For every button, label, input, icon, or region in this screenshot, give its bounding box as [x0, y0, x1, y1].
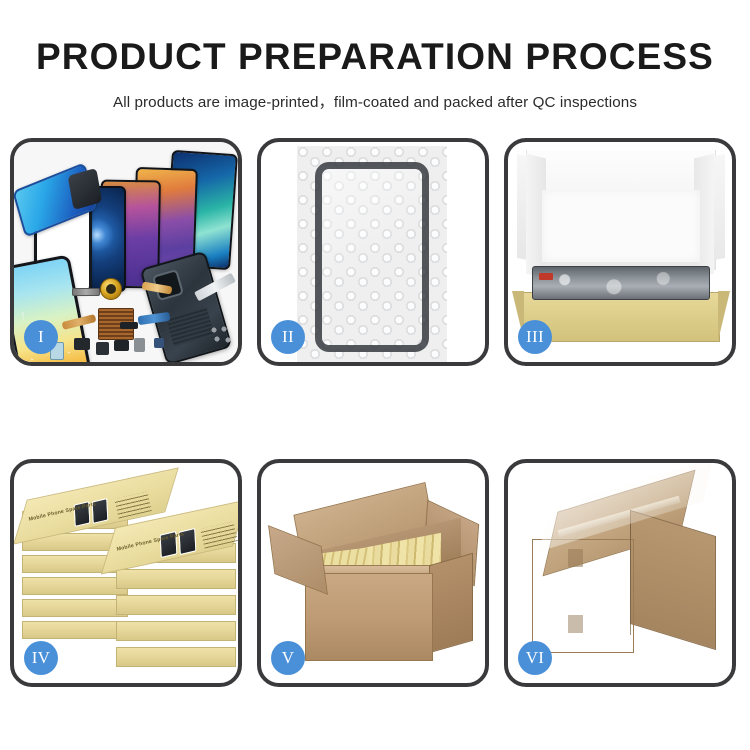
- carton-edge-seam: [630, 523, 631, 635]
- carton-right-panel-icon: [630, 510, 716, 650]
- phone-glass-outline-icon: [315, 162, 429, 352]
- stacked-box: [116, 647, 236, 667]
- metal-bracket-icon: [72, 288, 100, 296]
- chip-part-b-icon: [96, 342, 109, 355]
- process-step-panel-3[interactable]: III: [504, 138, 736, 366]
- process-step-panel-2[interactable]: II: [257, 138, 489, 366]
- chip-part-g-icon: [120, 322, 138, 329]
- page-title: PRODUCT PREPARATION PROCESS: [0, 0, 750, 78]
- stacked-box: [22, 599, 128, 617]
- process-step-panel-4[interactable]: Mobile Phone Spare Parts Mobile Phone Sp…: [10, 459, 242, 687]
- chip-part-f-icon: [154, 338, 164, 348]
- stacked-box: [22, 577, 128, 595]
- process-step-grid: I II III: [10, 138, 740, 687]
- step-badge-5: V: [271, 641, 305, 675]
- stacked-box: [116, 569, 236, 589]
- speaker-coil-icon: [100, 278, 122, 300]
- screen-red-tab-icon: [539, 273, 553, 280]
- process-step-panel-5[interactable]: V: [257, 459, 489, 687]
- carton-handle-tab-icon: [568, 615, 583, 633]
- sealed-carton: [526, 483, 718, 675]
- carton-handle-tab-icon: [568, 549, 583, 567]
- bubble-wrap-background: [297, 146, 447, 362]
- chip-part-d-icon: [134, 338, 145, 352]
- process-step-panel-6[interactable]: VI: [504, 459, 736, 687]
- stacked-box: [116, 621, 236, 641]
- carton-side-panel-icon: [429, 553, 473, 654]
- step-badge-6: VI: [518, 641, 552, 675]
- screws-icon: [210, 326, 234, 348]
- step-badge-1: I: [24, 320, 58, 354]
- page-subtitle: All products are image-printed，film-coat…: [0, 78, 750, 112]
- stacked-box: [116, 595, 236, 615]
- chip-part-c-icon: [114, 340, 129, 351]
- process-step-panel-1[interactable]: I: [10, 138, 242, 366]
- step-badge-2: II: [271, 320, 305, 354]
- chip-part-a-icon: [74, 338, 90, 350]
- step-badge-4: IV: [24, 641, 58, 675]
- open-carton: [275, 489, 473, 671]
- foam-padding-icon: [542, 190, 700, 262]
- step-badge-3: III: [518, 320, 552, 354]
- packed-screen-icon: [532, 266, 710, 300]
- stacked-box: [22, 621, 128, 639]
- carton-front-panel-icon: [532, 539, 634, 653]
- page-header: PRODUCT PREPARATION PROCESS All products…: [0, 0, 750, 112]
